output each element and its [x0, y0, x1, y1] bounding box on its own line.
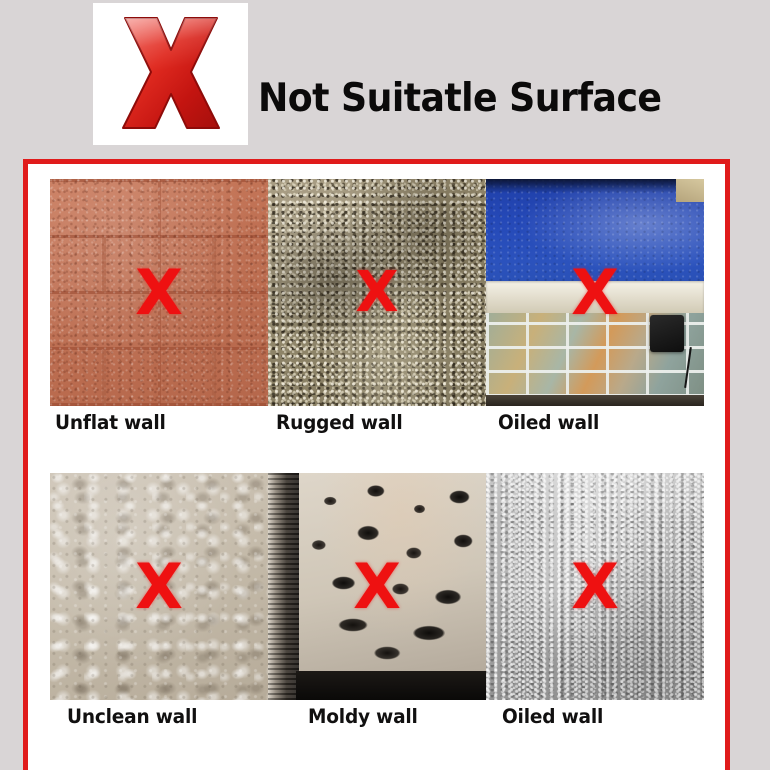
tile-label-unclean-wall: Unclean wall: [67, 705, 197, 728]
tile-label-oiled-wall-blue: Oiled wall: [498, 411, 599, 434]
surface-tile-rugged-wall[interactable]: X: [268, 179, 486, 406]
tile-label-unflat-wall: Unflat wall: [55, 411, 166, 434]
red-x-mark-icon: X: [135, 262, 183, 324]
red-x-cross-icon: [101, 8, 241, 140]
tile-strip: X X X: [50, 473, 704, 700]
black-wall-device: [650, 315, 685, 351]
logo-tile: [93, 3, 248, 145]
header: Not Suitatle Surface: [0, 0, 770, 155]
surface-tile-unflat-wall[interactable]: X: [50, 179, 268, 406]
dark-bottom-band: [296, 671, 486, 701]
surface-tile-moldy-wall[interactable]: X: [268, 473, 486, 700]
tile-label-oiled-wall-grey: Oiled wall: [502, 705, 603, 728]
page-title: Not Suitatle Surface: [258, 79, 661, 118]
tile-label-moldy-wall: Moldy wall: [308, 705, 418, 728]
red-x-mark-icon: X: [571, 262, 619, 324]
tile-label-strip: Unclean wall Moldy wall Oiled wall: [28, 705, 725, 739]
red-x-mark-icon: X: [355, 265, 398, 321]
surface-tile-unclean-wall[interactable]: X: [50, 473, 268, 700]
red-x-mark-icon: X: [353, 556, 401, 618]
surface-tile-oiled-wall-grey[interactable]: X: [486, 473, 704, 700]
not-suitable-surface-panel: X X X Unflat w: [23, 159, 730, 770]
tile-strip: X X X: [50, 179, 704, 406]
tile-label-rugged-wall: Rugged wall: [276, 411, 402, 434]
ceiling-shadow: [486, 179, 704, 193]
red-x-mark-icon: X: [135, 556, 183, 618]
corner-wall-patch: [676, 179, 704, 202]
surface-tile-oiled-wall-blue[interactable]: X: [486, 179, 704, 406]
floor-strip: [486, 395, 704, 406]
tile-label-strip: Unflat wall Rugged wall Oiled wall: [28, 411, 725, 445]
wall-corner-edge: [268, 473, 299, 700]
red-x-mark-icon: X: [571, 556, 619, 618]
